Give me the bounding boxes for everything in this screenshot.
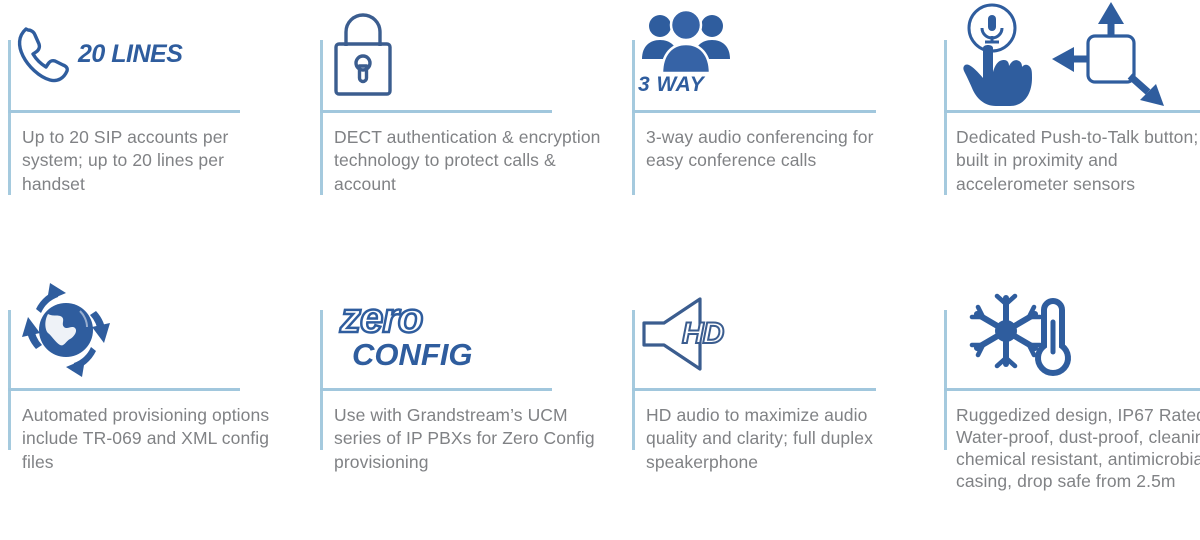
feature-grid: 20 LINES Up to 20 SIP accounts per syste… bbox=[0, 0, 1200, 540]
icon-container: zero CONFIG bbox=[340, 288, 473, 380]
feature-description: Up to 20 SIP accounts per system; up to … bbox=[22, 126, 276, 196]
phone-handset-icon bbox=[14, 23, 72, 85]
feature-cell-push-to-talk: Dedicated Push-to-Talk button; built in … bbox=[936, 0, 1200, 270]
icon-container bbox=[966, 286, 1076, 380]
icon-container bbox=[956, 0, 1172, 112]
config-wordmark: CONFIG bbox=[352, 339, 473, 370]
three-people-icon bbox=[638, 11, 734, 73]
zero-wordmark: zero bbox=[340, 298, 473, 338]
feature-cell-hd-audio: HD HD audio to maximize audio quality an… bbox=[624, 270, 924, 540]
feature-description: Automated provisioning options include T… bbox=[22, 404, 276, 474]
icon-container bbox=[326, 2, 400, 106]
feature-cell-twenty-lines: 20 LINES Up to 20 SIP accounts per syste… bbox=[0, 0, 300, 270]
wordmark-hd: HD bbox=[682, 317, 723, 351]
feature-cell-zero-config: zero CONFIG Use with Grandstream’s UCM s… bbox=[312, 270, 612, 540]
icon-container bbox=[14, 280, 118, 380]
wordmark-3-way: 3 WAY bbox=[638, 73, 734, 97]
icon-container: 3 WAY bbox=[638, 2, 734, 106]
cell-horizontal-rule bbox=[320, 110, 552, 113]
cell-horizontal-rule bbox=[632, 110, 876, 113]
cell-horizontal-rule bbox=[8, 388, 240, 391]
accelerometer-axes-icon bbox=[1044, 2, 1172, 110]
feature-cell-three-way-conference: 3 WAY 3-way audio conferencing for easy … bbox=[624, 0, 924, 270]
cell-vertical-rule bbox=[944, 310, 947, 450]
feature-description: Use with Grandstream’s UCM series of IP … bbox=[334, 404, 602, 474]
feature-description: HD audio to maximize audio quality and c… bbox=[646, 404, 914, 474]
cell-vertical-rule bbox=[632, 310, 635, 450]
cell-vertical-rule bbox=[320, 310, 323, 450]
feature-description: 3-way audio conferencing for easy confer… bbox=[646, 126, 914, 173]
cell-vertical-rule bbox=[8, 40, 11, 195]
feature-description: Ruggedized design, IP67 Rated-Water-proo… bbox=[956, 404, 1200, 492]
cell-vertical-rule bbox=[632, 40, 635, 195]
wordmark-20-lines: 20 LINES bbox=[78, 40, 182, 69]
feature-description: Dedicated Push-to-Talk button; built in … bbox=[956, 126, 1200, 196]
cell-horizontal-rule bbox=[632, 388, 876, 391]
cell-vertical-rule bbox=[944, 40, 947, 195]
feature-cell-dect-security: DECT authentication & encryption technol… bbox=[312, 0, 612, 270]
icon-container: HD bbox=[638, 290, 723, 378]
padlock-icon bbox=[326, 6, 400, 102]
feature-cell-auto-provisioning: Automated provisioning options include T… bbox=[0, 270, 300, 540]
cell-horizontal-rule bbox=[944, 388, 1200, 391]
feature-description: DECT authentication & encryption technol… bbox=[334, 126, 602, 196]
feature-cell-ruggedized: Ruggedized design, IP67 Rated-Water-proo… bbox=[936, 270, 1200, 540]
globe-refresh-icon bbox=[14, 281, 118, 379]
cell-vertical-rule bbox=[8, 310, 11, 450]
zero-config-wordmark-icon: zero CONFIG bbox=[340, 298, 473, 370]
cell-horizontal-rule bbox=[8, 110, 240, 113]
cell-vertical-rule bbox=[320, 40, 323, 195]
hand-press-microphone-icon bbox=[956, 2, 1038, 110]
snowflake-thermometer-icon bbox=[966, 288, 1076, 378]
cell-horizontal-rule bbox=[320, 388, 552, 391]
icon-container: 20 LINES bbox=[14, 2, 182, 106]
